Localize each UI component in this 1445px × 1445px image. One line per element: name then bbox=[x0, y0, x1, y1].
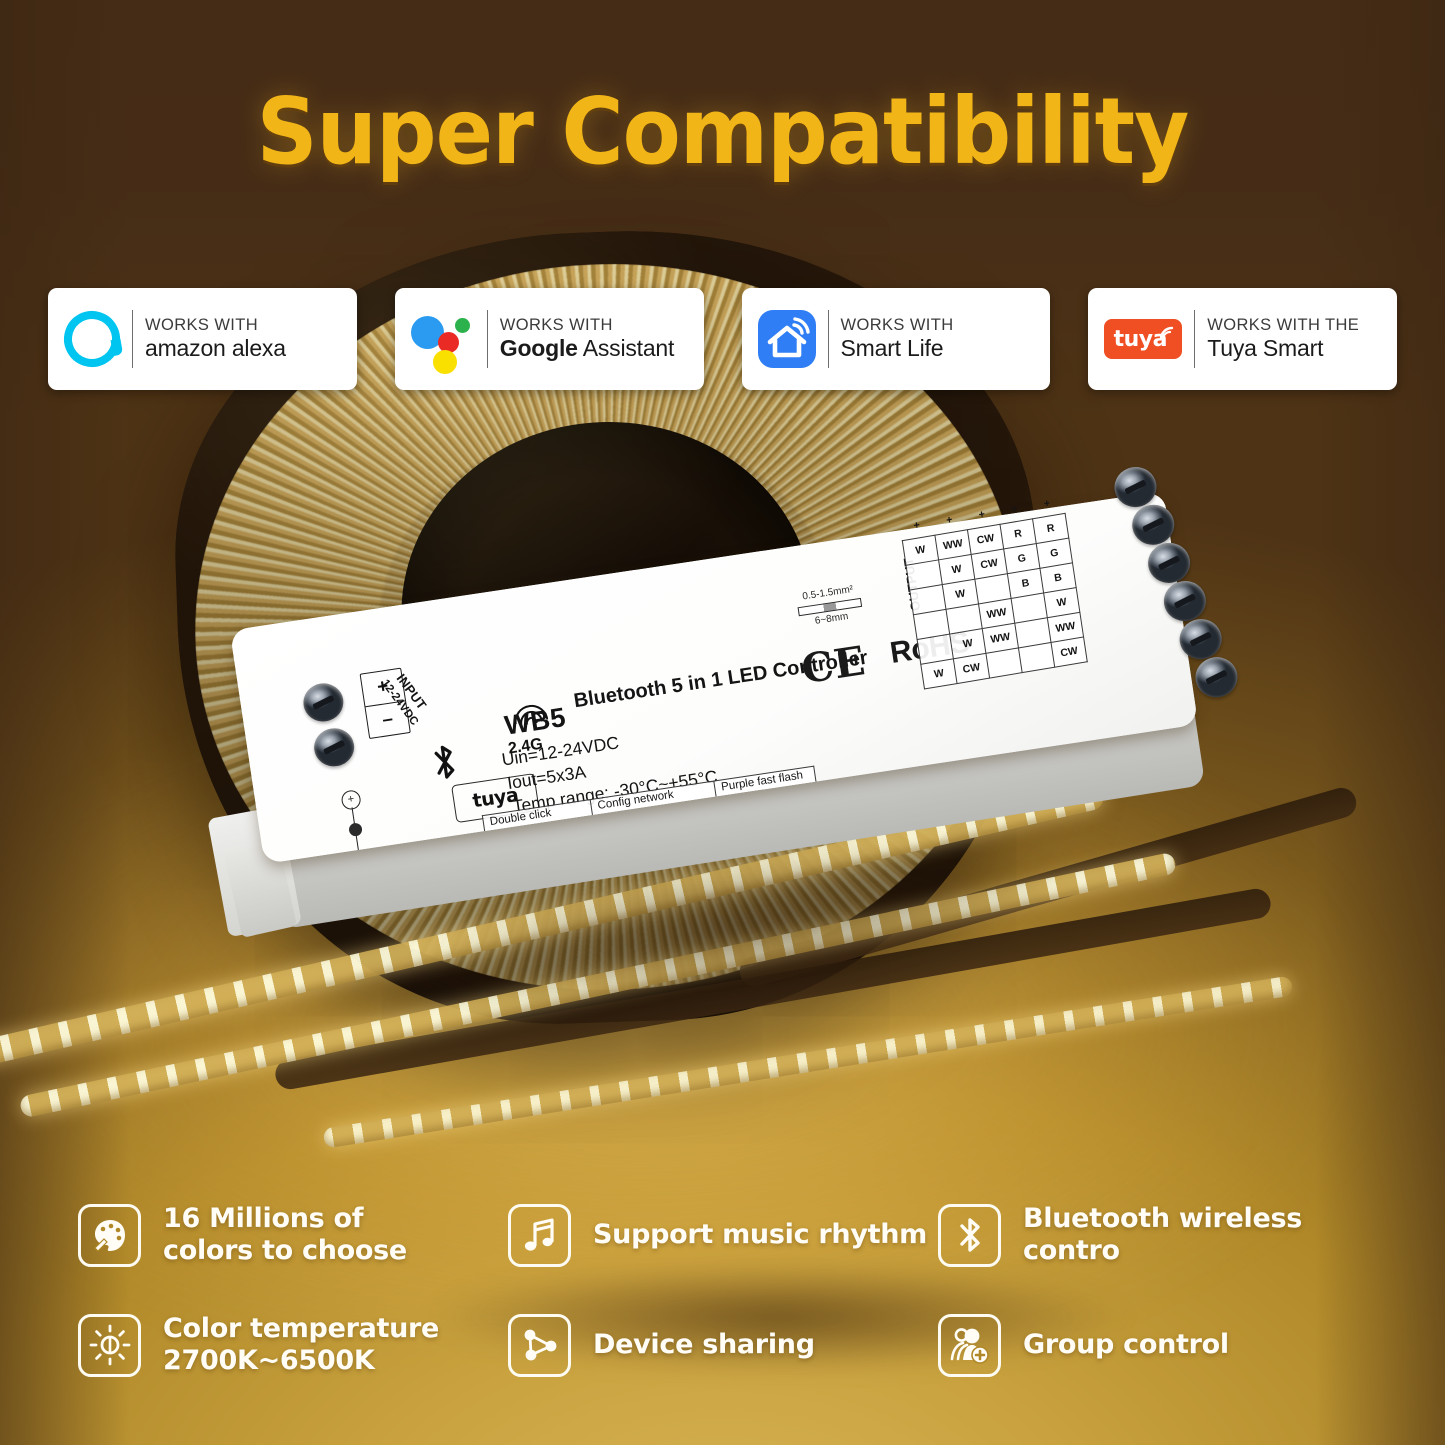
product-marketing-image: Super Compatibility WORKS WITH amazon al… bbox=[0, 0, 1445, 1445]
badge-works-with-label: WORKS WITH bbox=[841, 316, 954, 335]
output-cell bbox=[1018, 642, 1054, 672]
badge-smart-life[interactable]: WORKS WITH Smart Life bbox=[742, 288, 1051, 390]
page-title: Super Compatibility bbox=[58, 86, 1387, 178]
feature-label: Color temperature 2700K~6500K bbox=[163, 1313, 439, 1378]
output-wiring-table: + + + + + W WW CW R R bbox=[898, 489, 1088, 689]
badge-text: WORKS WITH Smart Life bbox=[841, 316, 954, 363]
badge-brand-label: Google Assistant bbox=[500, 335, 674, 362]
feature-bluetooth: Bluetooth wireless contro bbox=[938, 1203, 1378, 1268]
badge-brand-label: amazon alexa bbox=[145, 335, 286, 362]
badge-works-with-label: WORKS WITH bbox=[145, 316, 286, 335]
badge-amazon-alexa[interactable]: WORKS WITH amazon alexa bbox=[48, 288, 357, 390]
feature-label: Group control bbox=[1023, 1329, 1229, 1361]
feature-label: Bluetooth wireless contro bbox=[1023, 1203, 1378, 1268]
badge-text: WORKS WITH THE Tuya Smart bbox=[1207, 316, 1359, 363]
badge-brand-label: Tuya Smart bbox=[1207, 335, 1359, 362]
share-nodes-icon bbox=[508, 1314, 571, 1377]
output-terminal-5[interactable] bbox=[1177, 616, 1224, 662]
feature-device-sharing: Device sharing bbox=[508, 1314, 938, 1377]
badge-works-with-label: WORKS WITH bbox=[500, 316, 674, 335]
badge-divider bbox=[828, 310, 829, 368]
badge-divider bbox=[132, 310, 133, 368]
output-cell: CW bbox=[953, 653, 989, 683]
badge-text: WORKS WITH amazon alexa bbox=[145, 316, 286, 363]
badge-text: WORKS WITH Google Assistant bbox=[500, 316, 674, 363]
music-note-icon bbox=[508, 1204, 571, 1267]
google-dot-green bbox=[455, 318, 470, 333]
feature-colors: 16 Millions of colors to choose bbox=[78, 1203, 508, 1268]
feature-group-control: Group control bbox=[938, 1314, 1378, 1377]
badge-google-assistant[interactable]: WORKS WITH Google Assistant bbox=[395, 288, 704, 390]
output-cell: CW bbox=[1051, 637, 1087, 667]
output-terminal-1[interactable] bbox=[1112, 464, 1159, 510]
color-palette-icon bbox=[78, 1204, 141, 1267]
alexa-ring-icon bbox=[64, 311, 120, 367]
google-dot-yellow bbox=[433, 350, 457, 374]
output-terminal-3[interactable] bbox=[1145, 540, 1192, 586]
smart-life-house-icon bbox=[758, 310, 816, 368]
google-assistant-dots-icon bbox=[411, 310, 475, 368]
badge-works-with-label: WORKS WITH THE bbox=[1207, 316, 1359, 335]
badge-divider bbox=[487, 310, 488, 368]
feature-label: Support music rhythm bbox=[593, 1219, 927, 1251]
output-cell: W bbox=[921, 659, 957, 689]
output-terminal-block: OUTPUT + + + + + W WW CW bbox=[895, 452, 1232, 763]
feature-music-rhythm: Support music rhythm bbox=[508, 1204, 938, 1267]
tuya-logo-icon: tuya bbox=[1104, 319, 1182, 359]
output-cell bbox=[986, 648, 1022, 678]
output-terminal-2[interactable] bbox=[1130, 502, 1177, 548]
feature-list: 16 Millions of colors to choose Support … bbox=[78, 1180, 1378, 1400]
badge-divider bbox=[1194, 310, 1195, 368]
feature-label: 16 Millions of colors to choose bbox=[163, 1203, 407, 1268]
badge-brand-label: Smart Life bbox=[841, 335, 954, 362]
ce-mark-icon: CE bbox=[798, 637, 869, 693]
group-users-icon bbox=[938, 1314, 1001, 1377]
badge-tuya-smart[interactable]: tuya WORKS WITH THE Tuya Smart bbox=[1088, 288, 1397, 390]
brightness-sun-icon bbox=[78, 1314, 141, 1377]
compatibility-badge-row: WORKS WITH amazon alexa WORKS WITH Googl… bbox=[48, 288, 1397, 390]
output-terminal-4[interactable] bbox=[1161, 578, 1208, 624]
feature-label: Device sharing bbox=[593, 1329, 815, 1361]
bluetooth-icon bbox=[938, 1204, 1001, 1267]
feature-color-temperature: Color temperature 2700K~6500K bbox=[78, 1313, 508, 1378]
